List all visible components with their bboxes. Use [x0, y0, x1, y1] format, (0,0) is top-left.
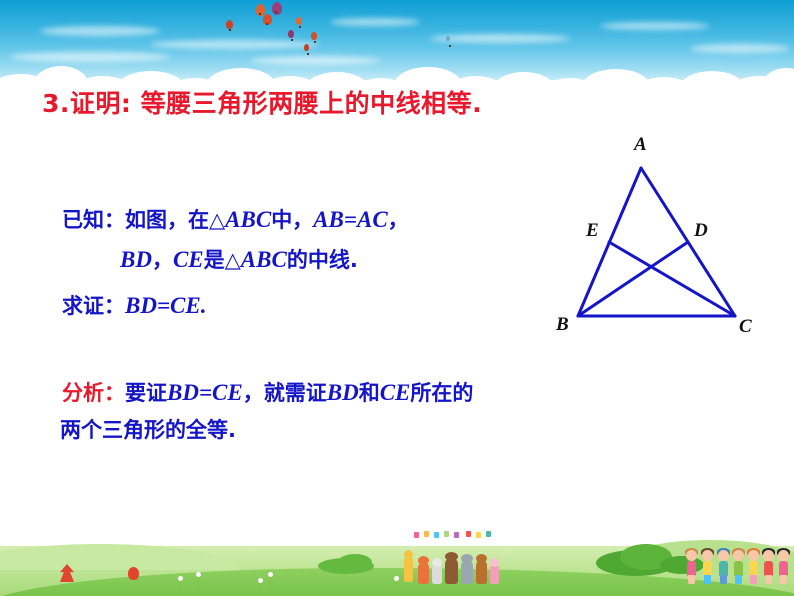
given-equality-ab-ac: AB=AC	[313, 207, 387, 232]
segment-bd: BD	[120, 247, 152, 272]
sky-banner-image	[0, 0, 794, 92]
analysis-line-2: 两个三角形的全等.	[60, 412, 473, 449]
vertex-label-C: C	[739, 316, 752, 338]
triangle-symbol-icon: △	[225, 248, 241, 272]
cartoon-animal	[445, 558, 458, 584]
bunting-flag	[486, 531, 491, 537]
given-text-mid: 中，	[271, 208, 313, 232]
cartoon-child	[716, 550, 731, 586]
prove-equality: BD=CE	[125, 293, 201, 318]
vertex-label-B: B	[556, 314, 569, 336]
analysis-he: 和	[359, 381, 380, 405]
analysis-equality: BD=CE	[167, 380, 243, 405]
hot-air-balloon-icon	[226, 20, 233, 29]
segment-ce: CE	[173, 247, 204, 272]
prove-period: .	[201, 293, 207, 318]
analysis-line-1: 分析：要证BD=CE，就需证BD和CE所在的	[62, 374, 473, 412]
hot-air-balloon-icon	[272, 2, 282, 15]
cartoon-animal	[461, 560, 473, 584]
given-abc-2: ABC	[241, 247, 287, 272]
hot-air-balloon-icon	[288, 30, 294, 38]
triangle-figure: A B C E D	[548, 132, 778, 347]
cartoon-animal	[490, 564, 499, 584]
prove-line: 求证：BD=CE.	[62, 286, 409, 326]
triangle-symbol-icon: △	[209, 208, 225, 232]
hot-air-balloon-icon	[256, 4, 265, 16]
given-abc-1: ABC	[225, 207, 271, 232]
prove-label: 求证：	[62, 294, 125, 318]
given-text-comma: ，	[388, 208, 409, 232]
cartoon-animal	[404, 556, 413, 582]
slide-title: 3.证明: 等腰三角形两腰上的中线相等.	[42, 84, 482, 120]
cartoon-animal	[418, 562, 429, 584]
cartoon-child	[731, 550, 746, 586]
hot-air-balloon-icon	[311, 32, 317, 40]
hot-air-balloon-icon	[446, 36, 450, 41]
grass-footer-image	[0, 524, 794, 596]
hot-air-balloon-icon	[296, 17, 302, 25]
analysis-label: 分析：	[62, 381, 125, 405]
analysis-segment-ce: CE	[380, 380, 411, 405]
cartoon-child	[761, 550, 776, 586]
given-shi: 是	[204, 248, 225, 272]
hot-air-balloon-icon	[263, 14, 272, 25]
cartoon-animal	[432, 564, 442, 584]
bunting-flag	[424, 531, 429, 537]
vertex-label-A: A	[634, 134, 647, 156]
analysis-text-b: ，就需证	[243, 381, 327, 405]
cartoon-child	[776, 550, 791, 586]
bunting-flag	[476, 532, 481, 538]
bunting-flag	[434, 532, 439, 538]
cartoon-child	[746, 550, 761, 586]
slide-canvas: 3.证明: 等腰三角形两腰上的中线相等. 已知：如图，在△ABC中，AB=AC，…	[0, 0, 794, 596]
vertex-label-E: E	[586, 220, 599, 242]
analysis-text-a: 要证	[125, 381, 167, 405]
plant	[128, 567, 139, 580]
triangle-figure-svg	[548, 132, 778, 347]
hot-air-balloon-icon	[304, 44, 309, 51]
vertex-label-D: D	[694, 220, 708, 242]
given-comma-2: ，	[152, 248, 173, 272]
analysis-segment-bd: BD	[327, 380, 359, 405]
analysis-block: 分析：要证BD=CE，就需证BD和CE所在的 两个三角形的全等.	[62, 374, 473, 449]
given-label: 已知：	[62, 208, 125, 232]
analysis-text-c: 所在的	[410, 381, 473, 405]
cartoon-child	[684, 550, 699, 586]
bunting-flag	[444, 531, 449, 537]
given-prove-block: 已知：如图，在△ABC中，AB=AC， BD，CE是△ABC的中线. 求证：BD…	[62, 200, 409, 326]
bunting-flag	[414, 532, 419, 538]
given-tail: 的中线.	[287, 248, 358, 272]
bunting-flag	[466, 531, 471, 537]
given-line-1: 已知：如图，在△ABC中，AB=AC，	[62, 200, 409, 240]
cartoon-animal	[476, 560, 487, 584]
given-text-1: 如图，在	[125, 208, 209, 232]
bush	[338, 554, 372, 570]
bunting-flag	[454, 532, 459, 538]
cartoon-child	[700, 550, 715, 586]
given-line-2: BD，CE是△ABC的中线.	[62, 240, 409, 280]
